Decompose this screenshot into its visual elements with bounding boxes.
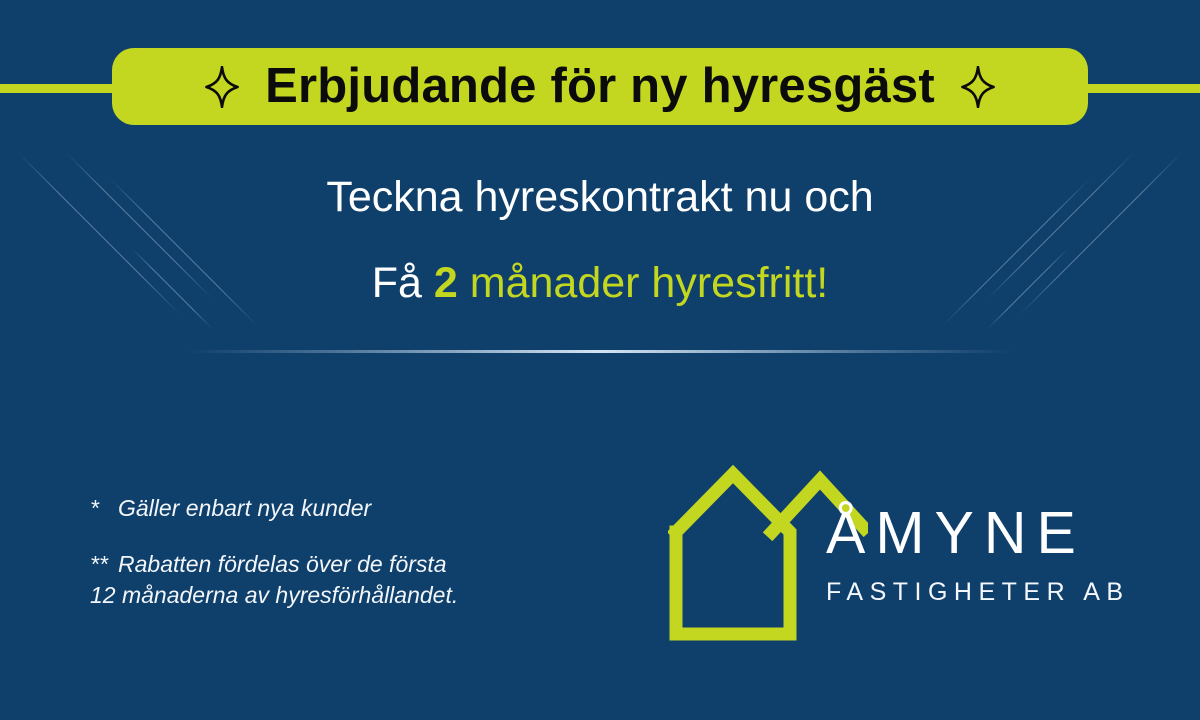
headline-banner: Erbjudande för ny hyresgäst — [112, 48, 1088, 125]
offer-line-1: Teckna hyreskontrakt nu och — [0, 172, 1200, 223]
offer-line-2-prefix: Få — [372, 259, 422, 307]
footnote-2-text-line-1: Rabatten fördelas över de första — [118, 551, 447, 577]
footnote-2-line-1: **Rabatten fördelas över de första — [90, 549, 650, 579]
footnote-1: *Gäller enbart nya kunder — [90, 493, 650, 523]
footnote-1-text: Gäller enbart nya kunder — [118, 495, 371, 521]
logo-name: ÅMYNE — [826, 504, 1138, 563]
logo-tagline: FASTIGHETER AB — [826, 580, 1138, 605]
company-logo: ÅMYNE FASTIGHETER AB — [668, 436, 1138, 648]
footnote-1-mark: * — [90, 493, 118, 523]
sparkle-icon — [205, 66, 239, 108]
footnote-1-line-1: *Gäller enbart nya kunder — [90, 493, 650, 523]
offer-copy: Teckna hyreskontrakt nu och Få 2 månader… — [0, 172, 1200, 308]
banner-title: Erbjudande för ny hyresgäst — [265, 62, 935, 111]
sparkle-icon — [961, 66, 995, 108]
section-divider — [188, 350, 1012, 353]
footnote-2-line-2: 12 månaderna av hyresförhållandet. — [90, 580, 650, 610]
footnotes: *Gäller enbart nya kunder **Rabatten för… — [90, 493, 650, 610]
offer-months-number: 2 — [434, 259, 458, 307]
offer-line-2-suffix: månader hyresfritt! — [470, 259, 828, 307]
poster-canvas: Erbjudande för ny hyresgäst Teckna hyres… — [0, 0, 1200, 720]
footnote-2-mark: ** — [90, 549, 118, 579]
offer-line-2: Få 2 månader hyresfritt! — [0, 258, 1200, 309]
logo-wordmark: ÅMYNE FASTIGHETER AB — [826, 504, 1138, 605]
footnote-2: **Rabatten fördelas över de första 12 må… — [90, 549, 650, 610]
